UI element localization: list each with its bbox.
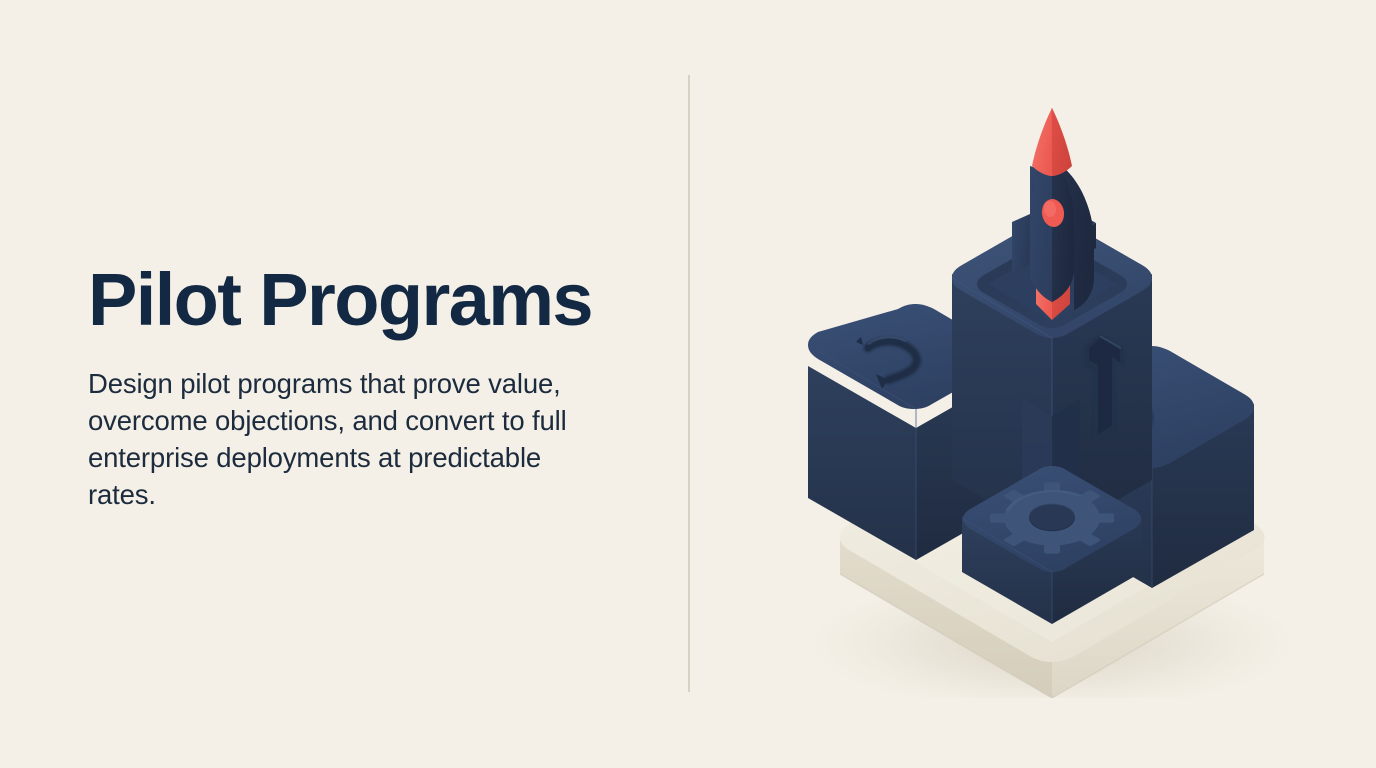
vertical-divider xyxy=(688,75,690,692)
page-title: Pilot Programs xyxy=(88,262,608,337)
slide-canvas: Pilot Programs Design pilot programs tha… xyxy=(0,0,1376,768)
rocket-nose-cone xyxy=(1032,108,1072,176)
page-body-text: Design pilot programs that prove value, … xyxy=(88,365,568,513)
gear-icon xyxy=(990,482,1114,553)
text-column: Pilot Programs Design pilot programs tha… xyxy=(88,262,608,513)
rocket-body xyxy=(1030,158,1094,310)
isometric-rocket-blocks-illustration xyxy=(700,98,1376,698)
